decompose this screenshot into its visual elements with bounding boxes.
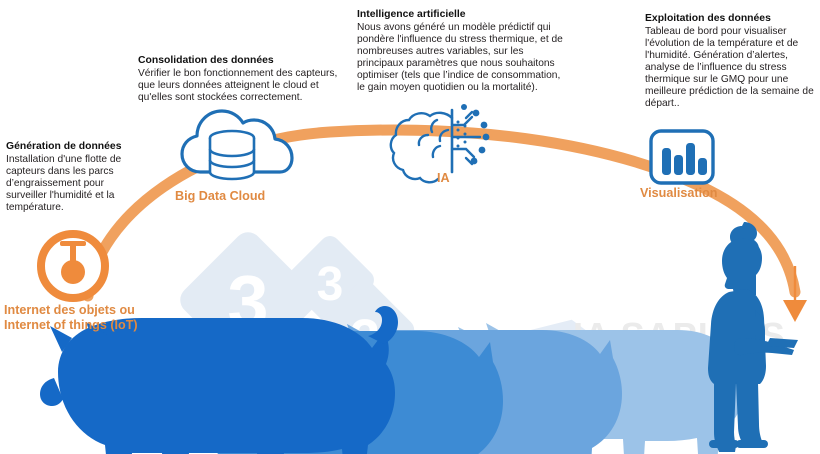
step-title-iot: Génération de données bbox=[6, 140, 144, 153]
step-body-iot: Installation d'une flotte de capteurs da… bbox=[6, 154, 144, 214]
node-label-ia: IA bbox=[437, 171, 497, 186]
step-title-ia: Intelligence artificielle bbox=[357, 8, 569, 21]
node-label-iot: Internet des objets ou Internet of thing… bbox=[4, 303, 174, 332]
step-text-visualisation: Exploitation des données Tableau de bord… bbox=[645, 12, 817, 110]
step-body-cloud: Vérifier le bon fonctionnement des capte… bbox=[138, 68, 350, 104]
infographic-canvas: 3 3 3 IA SAPIENS INNOVATIONS bbox=[0, 0, 820, 454]
node-label-visualisation: Visualisation bbox=[640, 186, 760, 201]
step-body-ia: Nous avons généré un modèle prédictif qu… bbox=[357, 22, 569, 95]
node-label-cloud: Big Data Cloud bbox=[175, 189, 315, 204]
step-text-cloud: Consolidation des données Vérifier le bo… bbox=[138, 54, 350, 104]
step-text-ia: Intelligence artificielle Nous avons gén… bbox=[357, 8, 569, 94]
step-title-visualisation: Exploitation des données bbox=[645, 12, 817, 25]
step-title-cloud: Consolidation des données bbox=[138, 54, 350, 67]
step-body-visualisation: Tableau de bord pour visualiser l'évolut… bbox=[645, 26, 817, 111]
step-text-iot: Génération de données Installation d'une… bbox=[6, 140, 144, 214]
